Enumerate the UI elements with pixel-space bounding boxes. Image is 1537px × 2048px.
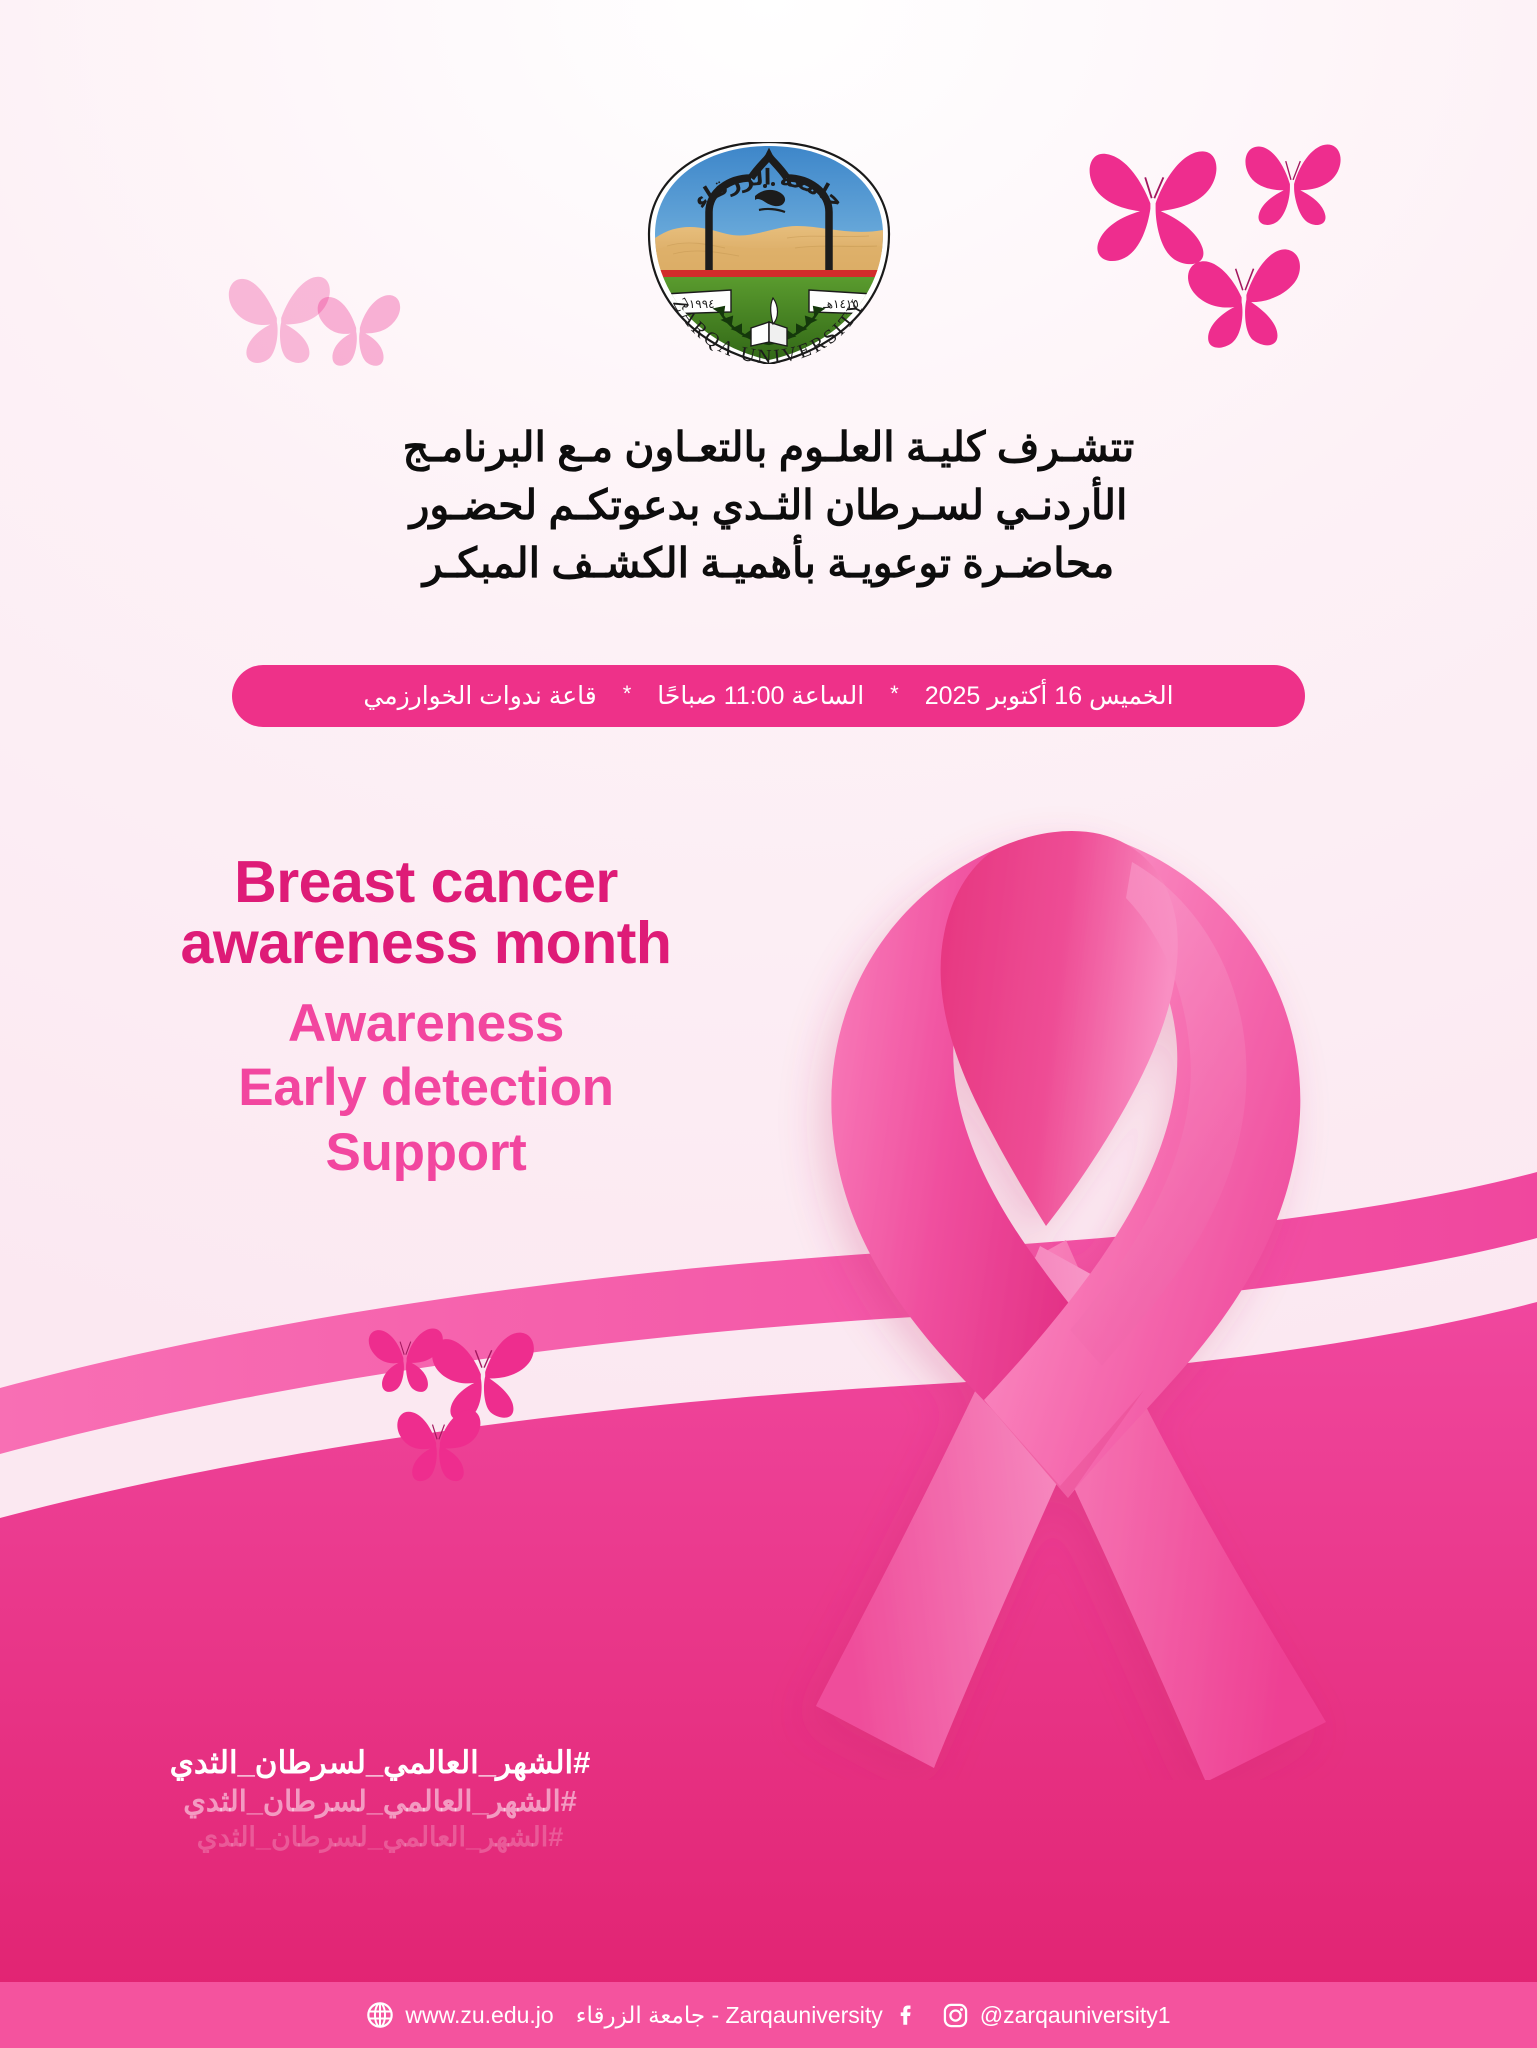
facebook-icon — [894, 2002, 920, 2028]
footer-instagram[interactable]: @zarqauniversity1 — [942, 2002, 1171, 2029]
headline-line-1: تتشـرف كليـة العلـوم بالتعـاون مـع البرن… — [170, 418, 1367, 476]
instagram-icon — [942, 2002, 969, 2029]
zarqa-university-logo: ١٩٩٤م ١٤١٥هـ — [647, 142, 891, 364]
globe-icon — [366, 2001, 394, 2029]
event-details-banner: الخميس 16 أكتوبر 2025 * الساعة 11:00 صبا… — [232, 665, 1305, 727]
slogan-point-early-detection: Early detection — [96, 1056, 756, 1121]
page-title: تتشـرف كليـة العلـوم بالتعـاون مـع البرن… — [0, 418, 1537, 593]
butterfly-icon — [1240, 136, 1344, 232]
headline-line-2: الأردنـي لسـرطان الثـدي بدعوتكـم لحضـور — [170, 476, 1367, 534]
event-time: الساعة 11:00 صباحًا — [657, 681, 864, 711]
banner-separator: * — [864, 681, 925, 707]
slogan-point-awareness: Awareness — [96, 992, 756, 1057]
instagram-label: @zarqauniversity1 — [980, 2002, 1171, 2029]
hashtag-stack: #الشهر_العالمي_لسرطان_الثدي #الشهر_العال… — [0, 1745, 760, 1853]
slogan-title-line-2: awareness month — [96, 913, 756, 974]
footer-facebook[interactable]: Zarqauniversity - جامعة الزرقاء — [576, 2002, 920, 2029]
butterfly-icon — [392, 1400, 484, 1486]
butterfly-icon — [1184, 240, 1304, 350]
slogan-point-support: Support — [96, 1121, 756, 1186]
banner-separator: * — [597, 681, 658, 707]
event-date: الخميس 16 أكتوبر 2025 — [925, 681, 1174, 711]
pink-ribbon-graphic — [740, 770, 1380, 1780]
footer-bar: www.zu.edu.jo Zarqauniversity - جامعة ال… — [0, 1982, 1537, 2048]
footer-website[interactable]: www.zu.edu.jo — [366, 2001, 553, 2029]
facebook-label: Zarqauniversity - جامعة الزرقاء — [576, 2002, 883, 2029]
event-venue: قاعة ندوات الخوارزمي — [363, 681, 596, 711]
hashtag-echo-1: #الشهر_العالمي_لسرطان_الثدي — [0, 1784, 760, 1819]
headline-line-3: محاضـرة توعويـة بأهميـة الكشـف المبكـر — [170, 534, 1367, 592]
hashtag-echo-2: #الشهر_العالمي_لسرطان_الثدي — [0, 1822, 760, 1853]
awareness-slogan: Breast cancer awareness month Awareness … — [96, 852, 756, 1186]
hashtag-primary: #الشهر_العالمي_لسرطان_الثدي — [0, 1745, 760, 1781]
poster-canvas: ١٩٩٤م ١٤١٥هـ — [0, 0, 1537, 2048]
slogan-title-line-1: Breast cancer — [96, 852, 756, 913]
butterfly-icon — [312, 286, 404, 370]
website-label: www.zu.edu.jo — [405, 2002, 553, 2029]
